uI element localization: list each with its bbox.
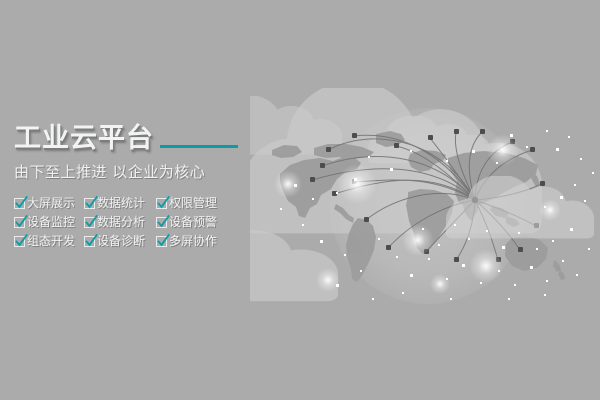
page-subtitle: 由下至上推进 以企业为核心 [14, 163, 254, 182]
feature-label: 设备监控 [27, 215, 75, 229]
feature-label: 组态开发 [27, 234, 75, 248]
checkbox-checked-icon[interactable] [156, 198, 167, 209]
checkbox-checked-icon[interactable] [84, 236, 95, 247]
feature-label: 数据分析 [97, 215, 145, 229]
banner-canvas: 工业云平台 由下至上推进 以企业为核心 大屏展示数据统计权限管理设备监控数据分析… [0, 0, 600, 400]
title-row: 工业云平台 [14, 124, 254, 154]
feature-label: 大屏展示 [27, 196, 75, 210]
feature-item[interactable]: 组态开发 [14, 234, 84, 248]
feature-item[interactable]: 大屏展示 [14, 196, 84, 210]
feature-item[interactable]: 设备预警 [156, 215, 232, 229]
feature-item[interactable]: 权限管理 [156, 196, 232, 210]
feature-item[interactable]: 数据统计 [84, 196, 156, 210]
checkbox-checked-icon[interactable] [14, 236, 25, 247]
feature-checklist: 大屏展示数据统计权限管理设备监控数据分析设备预警组态开发设备诊断多屏协作 [14, 196, 254, 248]
checkbox-checked-icon[interactable] [14, 217, 25, 228]
checkbox-checked-icon[interactable] [156, 236, 167, 247]
feature-label: 数据统计 [97, 196, 145, 210]
cloud-world-network-illustration [250, 88, 600, 313]
feature-label: 多屏协作 [169, 234, 217, 248]
checkbox-checked-icon[interactable] [156, 217, 167, 228]
hero-layers [250, 88, 594, 304]
checkbox-checked-icon[interactable] [84, 217, 95, 228]
checkbox-checked-icon[interactable] [14, 198, 25, 209]
feature-label: 设备诊断 [97, 234, 145, 248]
brand-copy-block: 工业云平台 由下至上推进 以企业为核心 大屏展示数据统计权限管理设备监控数据分析… [14, 124, 254, 248]
feature-item[interactable]: 多屏协作 [156, 234, 232, 248]
feature-label: 权限管理 [169, 196, 217, 210]
horizontal-rule-icon [160, 145, 238, 148]
feature-item[interactable]: 设备监控 [14, 215, 84, 229]
checkbox-checked-icon[interactable] [84, 198, 95, 209]
feature-item[interactable]: 设备诊断 [84, 234, 156, 248]
feature-label: 设备预警 [169, 215, 217, 229]
page-title: 工业云平台 [14, 124, 154, 154]
feature-item[interactable]: 数据分析 [84, 215, 156, 229]
